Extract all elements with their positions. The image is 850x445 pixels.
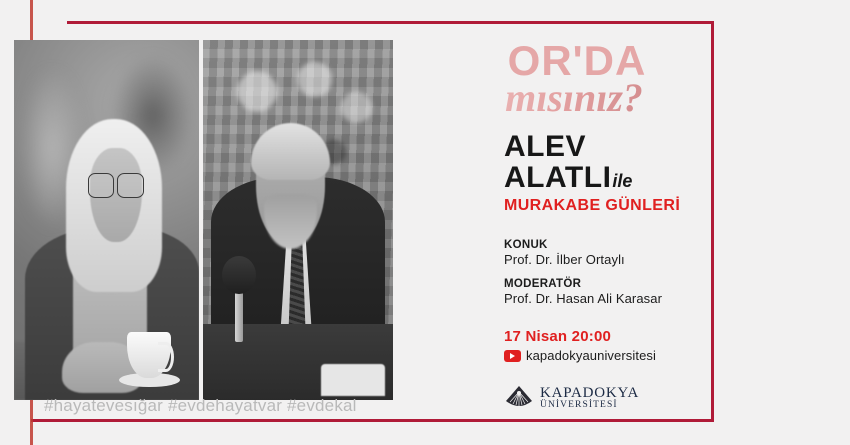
moderator-label: MODERATÖR — [504, 278, 702, 290]
frame-top-line — [67, 21, 714, 24]
photo-b-papers — [321, 364, 386, 396]
event-datetime: 17 Nisan 20:00 — [452, 328, 702, 345]
guest-label: KONUK — [504, 239, 702, 251]
event-poster: #hayatevesığar #evdehayatvar #evdekal OR… — [0, 0, 850, 445]
program-title: MURAKABE GÜNLERİ — [504, 197, 702, 215]
guest-name: Prof. Dr. İlber Ortaylı — [504, 252, 702, 267]
speaker-last-name-row: ALATLI ile — [504, 163, 702, 194]
university-logo: KAPADOKYA ÜNİVERSİTESİ — [452, 385, 702, 411]
credits-block: KONUK Prof. Dr. İlber Ortaylı MODERATÖR … — [452, 239, 702, 306]
hashtag-line: #hayatevesığar #evdehayatvar #evdekal — [44, 396, 357, 416]
moderator-name: Prof. Dr. Hasan Ali Karasar — [504, 291, 702, 306]
university-name-line2: ÜNİVERSİTESİ — [540, 401, 639, 411]
kapadokya-emblem-icon — [504, 385, 534, 411]
photo-a-eyeglasses — [88, 173, 144, 195]
youtube-icon — [504, 350, 521, 362]
speaker-suffix-ile: ile — [612, 172, 632, 190]
poster-text-column: OR'DA mısınız? ALEV ALATLI ile MURAKABE … — [452, 40, 702, 411]
frame-right-line — [711, 21, 714, 422]
speaker-first-name: ALEV — [504, 132, 702, 163]
photo-b-microphone — [218, 256, 260, 342]
photo-alev-alatli — [14, 40, 199, 400]
speaker-name-block: ALEV ALATLI ile MURAKABE GÜNLERİ — [452, 132, 702, 215]
frame-bottom-line — [31, 419, 714, 422]
headline-misiniz: mısınız? — [452, 78, 702, 118]
university-name-line1: KAPADOKYA — [540, 386, 639, 401]
university-logo-text: KAPADOKYA ÜNİVERSİTESİ — [540, 386, 639, 411]
credits-spacer — [504, 267, 702, 278]
youtube-handle: kapadokyauniversitesi — [526, 348, 656, 363]
speaker-photo-group — [14, 40, 393, 400]
photo-b-microphone-stem — [235, 289, 243, 343]
youtube-channel-row[interactable]: kapadokyauniversitesi — [452, 348, 702, 363]
photo-ilber-ortayli — [203, 40, 393, 400]
speaker-last-name: ALATLI — [504, 163, 611, 194]
photo-b-microphone-head — [222, 256, 255, 294]
